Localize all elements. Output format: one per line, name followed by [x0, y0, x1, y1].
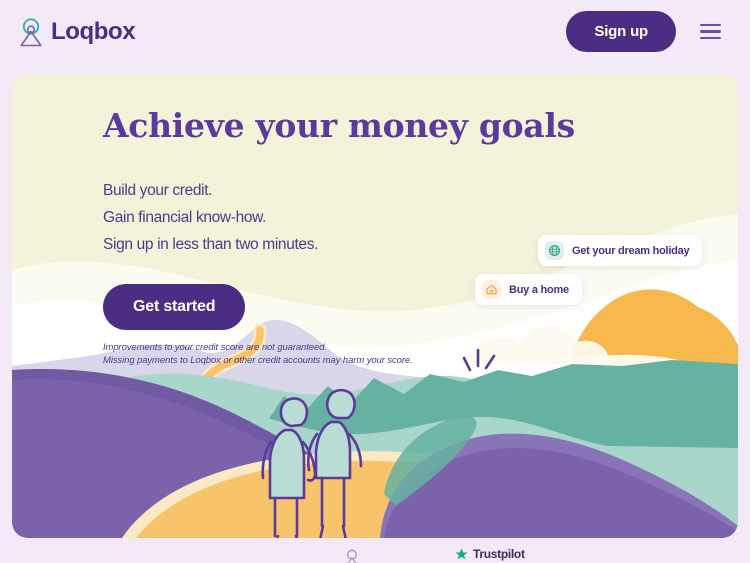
chip-label: Get your dream holiday [572, 245, 689, 257]
list-item: Build your credit. [103, 177, 575, 204]
menu-bar-3 [700, 37, 721, 39]
hero-content: Achieve your money goals Build your cred… [103, 108, 575, 367]
hamburger-menu-icon[interactable] [694, 16, 726, 48]
trustpilot-label: Trustpilot [473, 547, 525, 561]
site-header: Loqbox Sign up [0, 0, 750, 63]
get-started-button[interactable]: Get started [103, 284, 245, 330]
brand-logo[interactable]: Loqbox [18, 17, 135, 47]
chip-get-your-dream-holiday[interactable]: Get your dream holiday [538, 235, 702, 266]
list-item: Gain financial know-how. [103, 204, 575, 231]
menu-bar-1 [700, 24, 721, 26]
footer-loqbox-logo [344, 549, 360, 563]
list-item: Sign up in less than two minutes. [103, 231, 575, 258]
footer-strip: Trustpilot [0, 545, 750, 563]
loqbox-keyhole-logo-icon [344, 549, 360, 563]
hero-benefits-list: Build your credit. Gain financial know-h… [103, 177, 575, 258]
sign-up-button[interactable]: Sign up [566, 11, 676, 52]
trustpilot-badge[interactable]: Trustpilot [455, 547, 525, 561]
disclaimer-line-1: Improvements to your credit score are no… [103, 342, 575, 355]
menu-bar-2 [700, 30, 721, 32]
loqbox-keyhole-logo-icon [18, 17, 44, 47]
chip-buy-a-home[interactable]: Buy a home [475, 274, 582, 305]
disclaimer-line-2: Missing payments to Loqbox or other cred… [103, 355, 575, 368]
chip-label: Buy a home [509, 284, 569, 296]
disclaimer-text: Improvements to your credit score are no… [103, 342, 575, 367]
globe-icon [545, 241, 564, 260]
page-title: Achieve your money goals [103, 108, 575, 144]
trustpilot-star-icon [455, 548, 468, 561]
brand-name: Loqbox [51, 20, 135, 44]
house-icon [482, 280, 501, 299]
hero-card: Achieve your money goals Build your cred… [12, 74, 738, 538]
